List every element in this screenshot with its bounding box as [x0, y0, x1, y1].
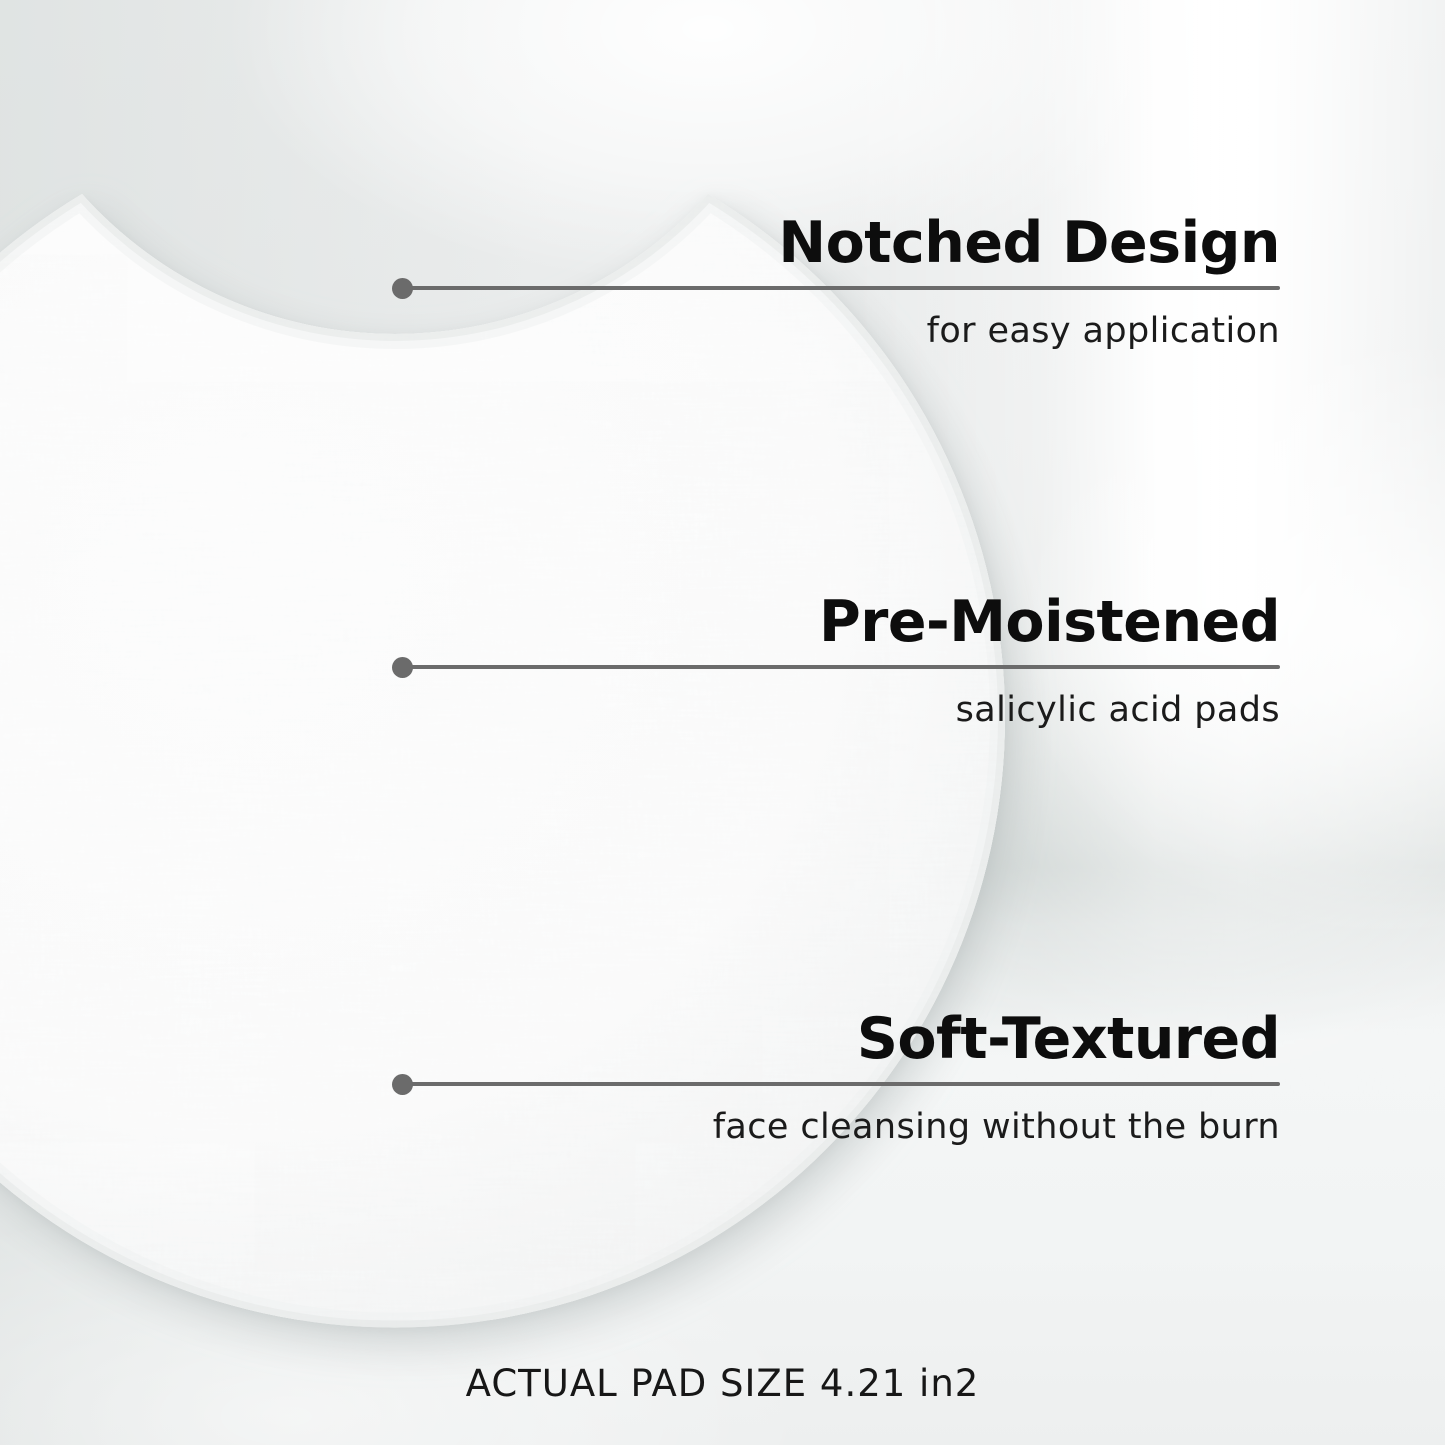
- callout-heading: Soft-Textured: [857, 1011, 1280, 1068]
- leader-dot-icon: [392, 657, 413, 678]
- callout-heading: Pre-Moistened: [819, 594, 1280, 651]
- callout-heading: Notched Design: [778, 215, 1280, 272]
- leader-line: [405, 286, 1280, 290]
- leader-line: [405, 665, 1280, 669]
- callout-subtitle: for easy application: [927, 310, 1280, 352]
- actual-pad-size-caption: ACTUAL PAD SIZE 4.21 in2: [0, 1362, 1445, 1405]
- callout-subtitle: face cleansing without the burn: [713, 1106, 1280, 1148]
- leader-line: [405, 1082, 1280, 1086]
- product-infographic: Notched Design for easy application Pre-…: [0, 0, 1445, 1445]
- callout-subtitle: salicylic acid pads: [956, 689, 1280, 731]
- leader-dot-icon: [392, 1074, 413, 1095]
- leader-dot-icon: [392, 278, 413, 299]
